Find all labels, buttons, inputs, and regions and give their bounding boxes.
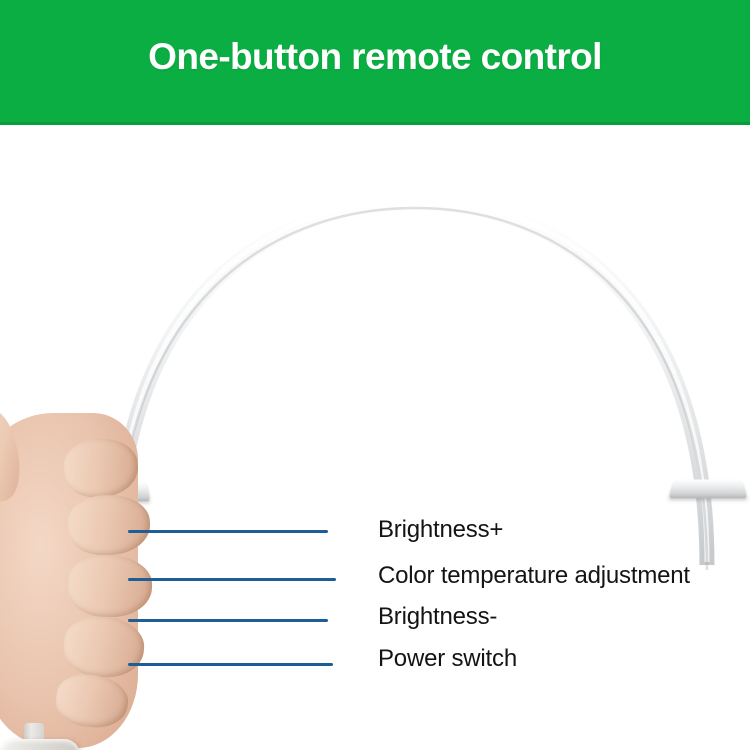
callout-label-power: Power switch xyxy=(378,645,517,673)
callout-line-color-temperature xyxy=(128,578,336,581)
callout-label-brightness-up: Brightness+ xyxy=(378,516,503,544)
page-title: One-button remote control xyxy=(0,33,750,81)
product-marketing-image: One-button remote control xyxy=(0,0,750,750)
lamp-arc xyxy=(95,195,745,625)
callout-label-brightness-down: Brightness- xyxy=(378,603,497,631)
finger xyxy=(66,493,151,557)
finger xyxy=(67,554,152,617)
hand-holding-remote: + − xyxy=(0,403,163,750)
lamp-foot-right xyxy=(672,477,744,499)
foot-plate xyxy=(668,479,748,498)
callout-line-power xyxy=(128,663,333,666)
remote-body xyxy=(0,739,80,750)
callout-line-brightness-up xyxy=(128,530,328,533)
callout-line-brightness-down xyxy=(128,619,328,622)
header-banner: One-button remote control xyxy=(0,0,750,125)
remote-control: + − xyxy=(0,723,86,750)
product-stage: + − xyxy=(0,125,750,750)
callout-label-color-temperature: Color temperature adjustment xyxy=(378,562,690,590)
